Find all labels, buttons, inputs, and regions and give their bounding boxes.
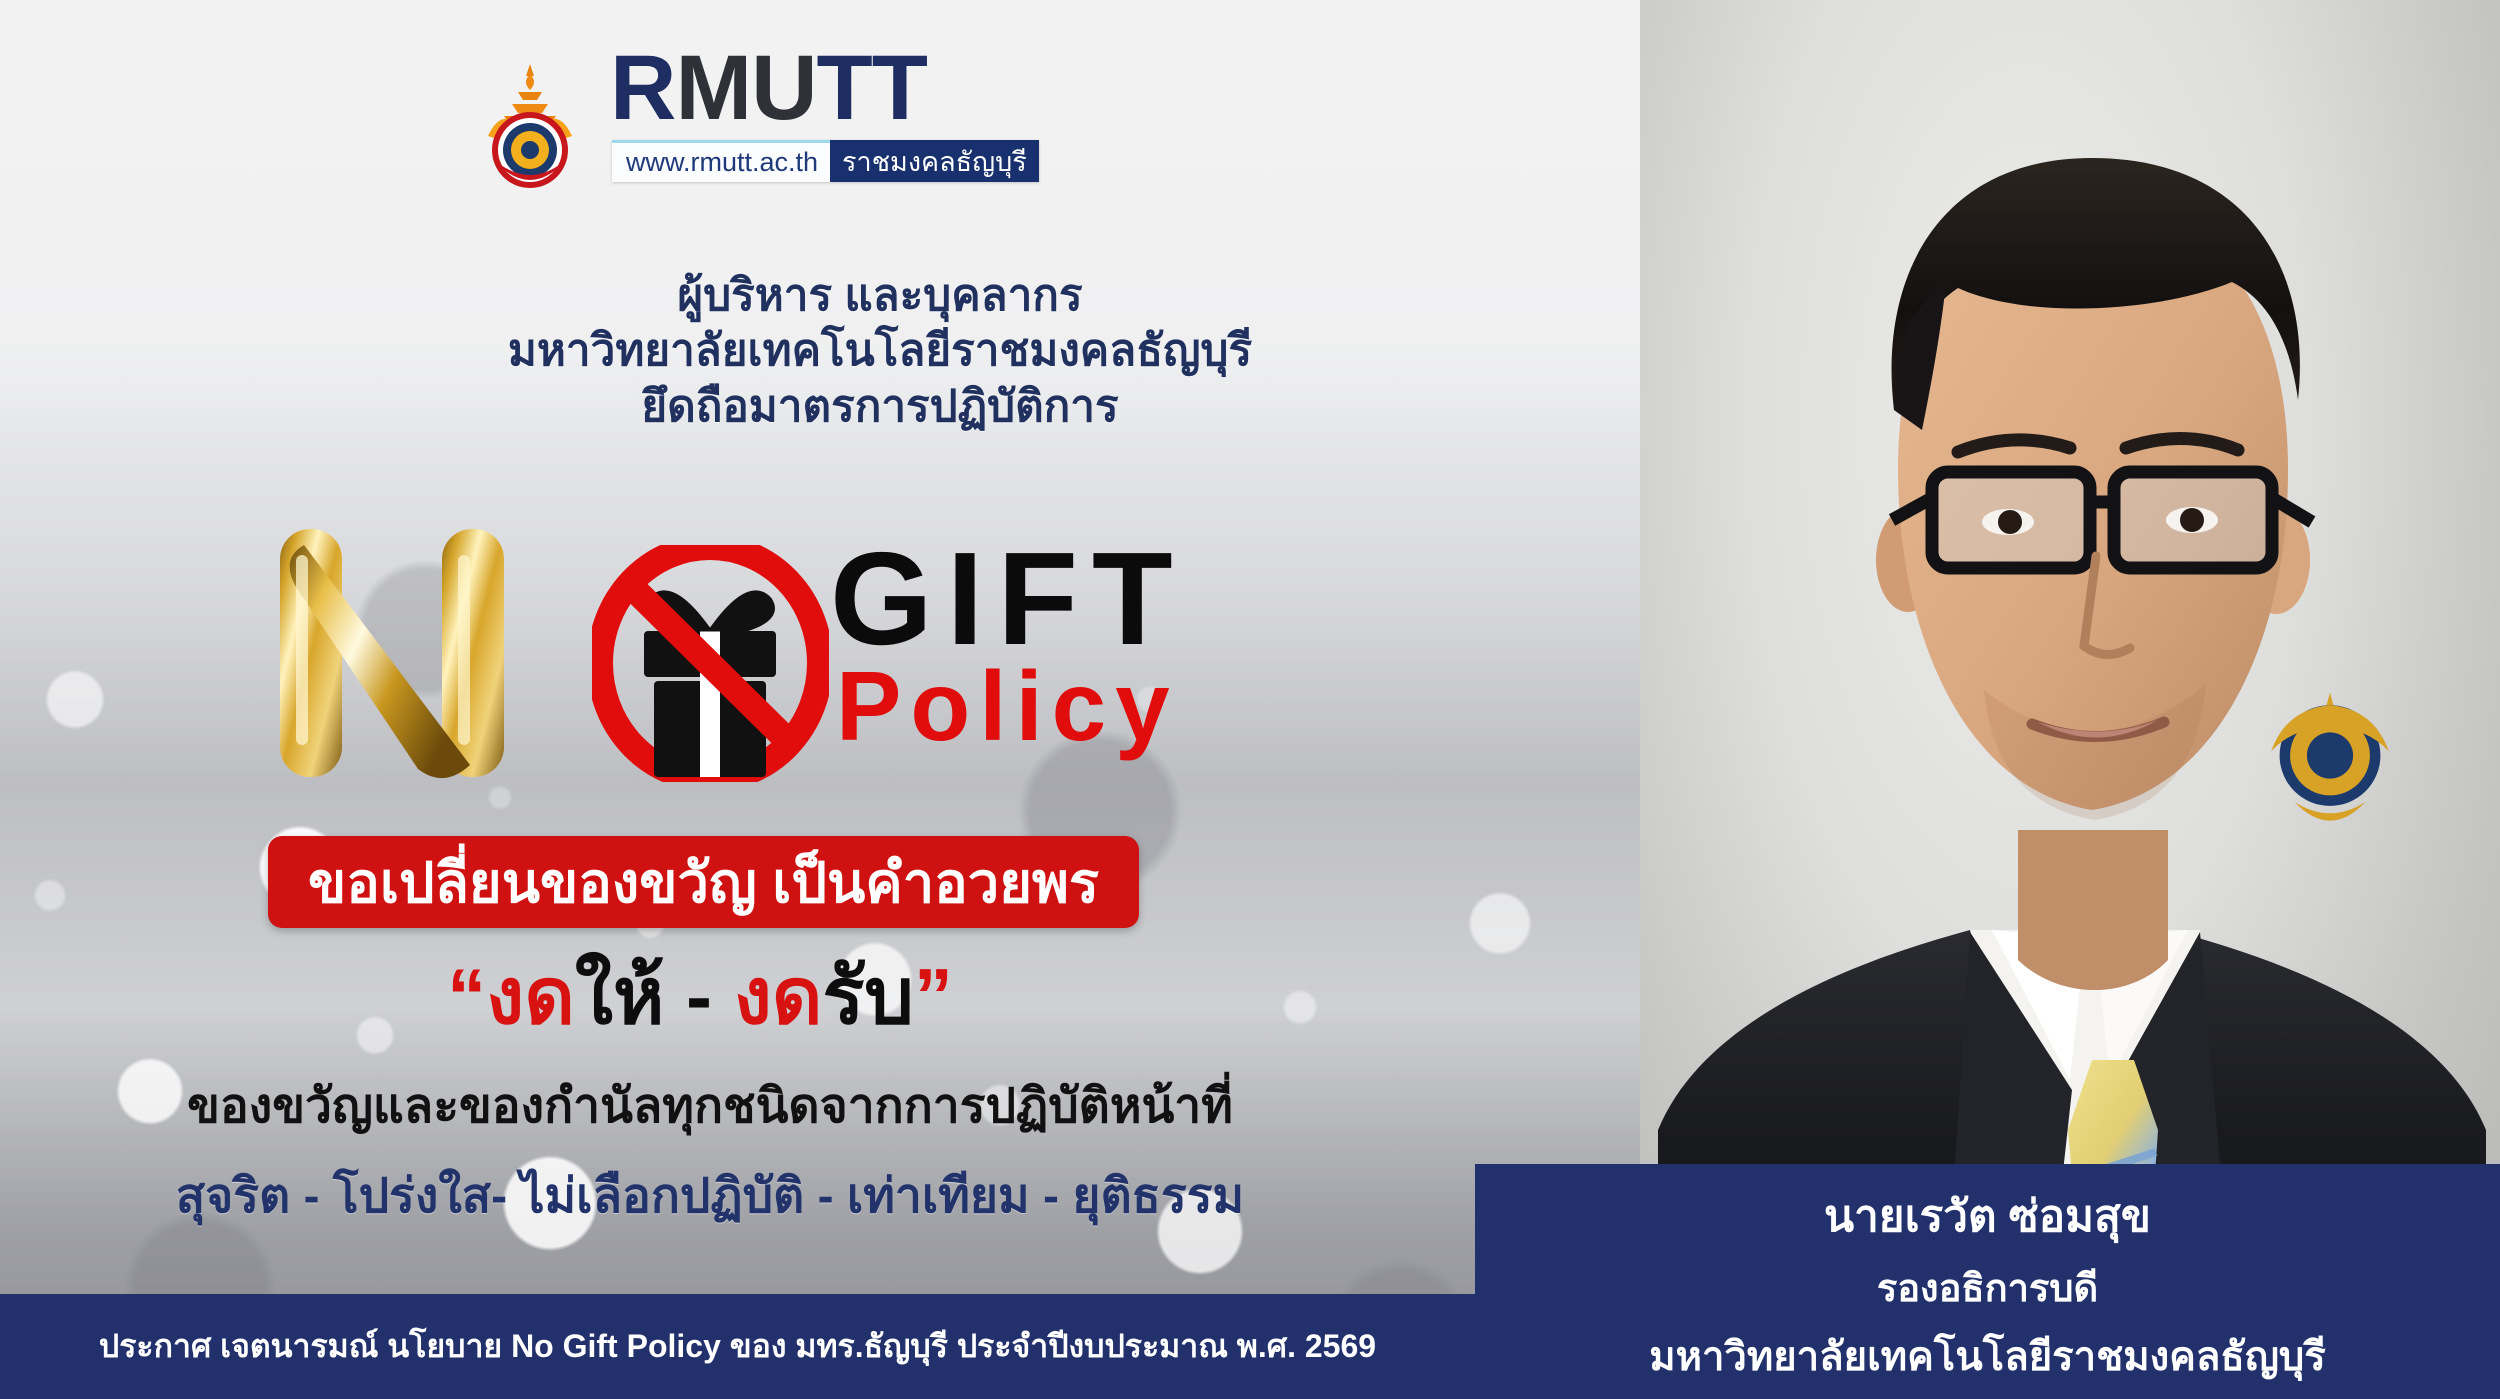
rmutt-logo: RMUTT www.rmutt.ac.th ราชมงคลธัญบุรี bbox=[470, 28, 1070, 198]
header-text-block: ผู้บริหาร และบุคลากร มหาวิทยาลัยเทคโนโลย… bbox=[300, 268, 1460, 434]
logo-thai-name: ราชมงคลธัญบุรี bbox=[830, 140, 1039, 182]
quote-line: “งดให้ - งดรับ” bbox=[120, 950, 1280, 1042]
no-gift-policy-logo: GIFT Policy bbox=[240, 505, 1490, 805]
header-line-3: ยึดถือมาตรการปฏิบัติการ bbox=[300, 379, 1460, 434]
announcement-bar: ประกาศ เจตนารมณ์ นโยบาย No Gift Policy ข… bbox=[0, 1294, 1475, 1399]
quote-close-mark: ” bbox=[914, 952, 953, 1040]
gift-text: GIFT bbox=[830, 533, 1187, 665]
gold-balloon-letter-n-icon bbox=[258, 515, 528, 790]
rmutt-royal-emblem-icon bbox=[470, 62, 590, 192]
header-line-2: มหาวิทยาลัยเทคโนโลยีราชมงคลธัญบุรี bbox=[300, 323, 1460, 378]
person-position: รองอธิการบดี bbox=[1877, 1257, 2098, 1318]
poster-canvas: RMUTT www.rmutt.ac.th ราชมงคลธัญบุรี ผู้… bbox=[0, 0, 2500, 1399]
logo-url-bar: www.rmutt.ac.th ราชมงคลธัญบุรี bbox=[612, 140, 1039, 182]
header-line-1: ผู้บริหาร และบุคลากร bbox=[300, 268, 1460, 323]
policy-text: Policy bbox=[836, 657, 1179, 755]
university-crest-pin bbox=[2271, 693, 2389, 821]
logo-url-text: www.rmutt.ac.th bbox=[612, 140, 830, 182]
quote-dash: - bbox=[664, 952, 733, 1040]
red-banner: ขอเปลี่ยนของขวัญ เป็นคำอวยพร bbox=[268, 836, 1139, 928]
person-name-panel: นายเรวัต ซ่อมสุข รองอธิการบดี มหาวิทยาลั… bbox=[1475, 1164, 2500, 1399]
subtitle-text: ของขวัญและของกำนัลทุกชนิดจากการปฏิบัติหน… bbox=[100, 1078, 1320, 1136]
red-banner-text: ขอเปลี่ยนของขวัญ เป็นคำอวยพร bbox=[308, 838, 1099, 927]
quote-red-1: งด bbox=[486, 952, 575, 1040]
quote-red-2: งด bbox=[734, 952, 823, 1040]
quote-black-2: รับ bbox=[822, 952, 913, 1040]
person-organization: มหาวิทยาลัยเทคโนโลยีราชมงคลธัญบุรี bbox=[1649, 1324, 2326, 1388]
rmutt-wordmark: RMUTT bbox=[610, 42, 927, 134]
person-name: นายเรวัต ซ่อมสุข bbox=[1824, 1181, 2151, 1251]
quote-open-mark: “ bbox=[447, 952, 486, 1040]
no-gift-prohibition-icon bbox=[592, 545, 829, 782]
values-text: สุจริต - โปร่งใส- ไม่เลือกปฏิบัติ - เท่า… bbox=[80, 1168, 1340, 1226]
quote-black-1: ให้ bbox=[575, 952, 665, 1040]
announcement-text: ประกาศ เจตนารมณ์ นโยบาย No Gift Policy ข… bbox=[99, 1321, 1376, 1372]
